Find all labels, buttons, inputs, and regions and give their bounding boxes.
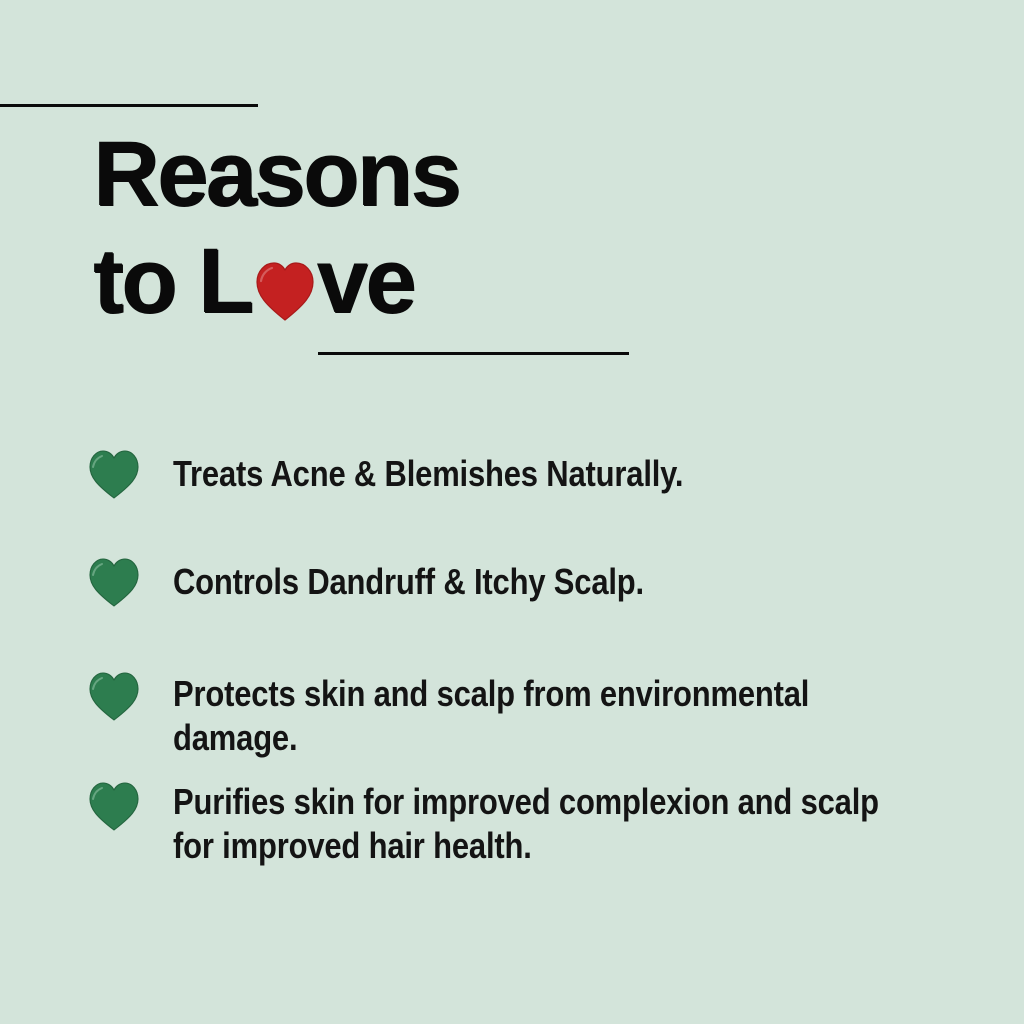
title-line-1: Reasons: [93, 121, 459, 228]
promo-poster: Reasons to L ve Treats Acne & Blemishes …: [0, 0, 1024, 1024]
benefit-text: Protects skin and scalp from environment…: [173, 672, 905, 760]
heart-icon-green: [88, 448, 140, 500]
heart-icon-green: [88, 780, 140, 832]
list-item: Purifies skin for improved complexion an…: [88, 778, 994, 868]
title-line-2-suffix: ve: [317, 230, 414, 332]
top-divider-line: [0, 104, 258, 107]
page-title: Reasons to L ve: [93, 121, 459, 335]
benefit-text: Treats Acne & Blemishes Naturally.: [173, 452, 683, 496]
list-item: Protects skin and scalp from environment…: [88, 668, 1024, 760]
list-item: Controls Dandruff & Itchy Scalp.: [88, 554, 721, 608]
benefit-text: Purifies skin for improved complexion an…: [173, 780, 879, 868]
heart-icon-green: [88, 670, 140, 722]
title-line-2-prefix: to L: [93, 230, 252, 332]
title-underline-divider: [318, 352, 629, 355]
heart-icon-red: [254, 258, 316, 322]
benefit-text: Controls Dandruff & Itchy Scalp.: [173, 560, 644, 604]
title-line-2: to L ve: [93, 228, 459, 335]
list-item: Treats Acne & Blemishes Naturally.: [88, 446, 766, 500]
heart-icon-green: [88, 556, 140, 608]
